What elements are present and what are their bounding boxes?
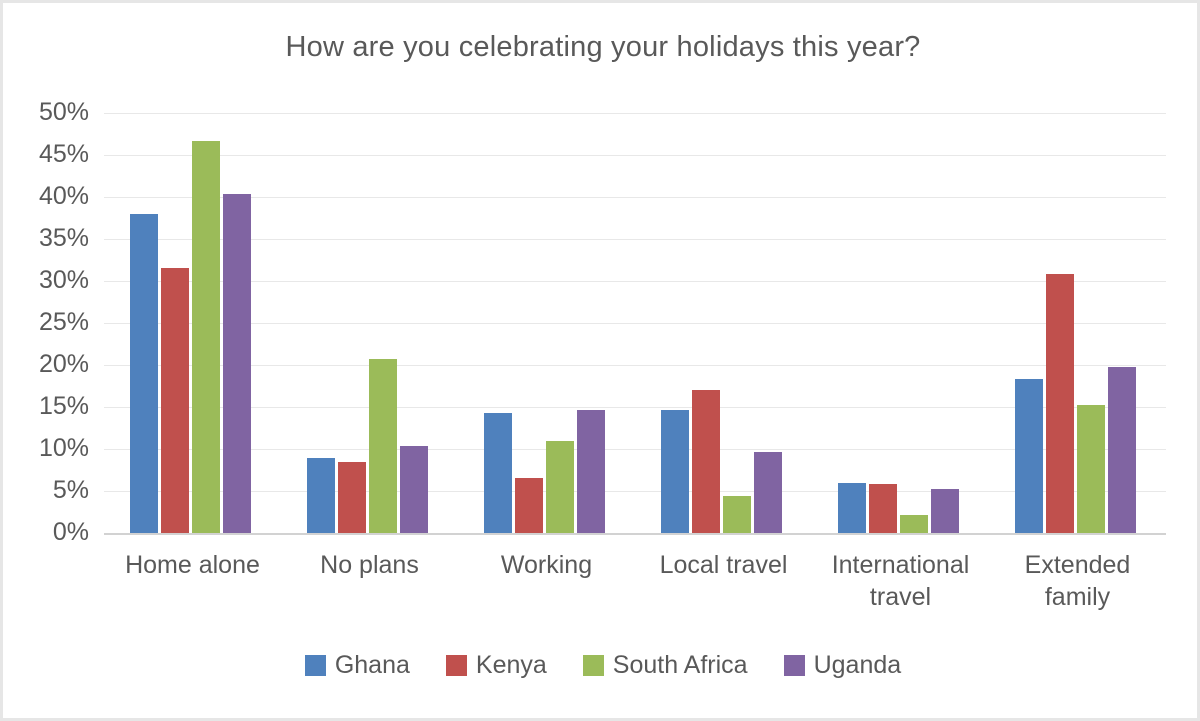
bar-group <box>635 113 812 533</box>
bar-south-africa[interactable] <box>723 496 751 533</box>
bar-uganda[interactable] <box>1108 367 1136 533</box>
y-axis-tick-label: 15% <box>3 394 89 419</box>
bar-ghana[interactable] <box>661 410 689 533</box>
bar-ghana[interactable] <box>484 413 512 533</box>
x-axis-category-label: No plans <box>281 549 458 581</box>
x-axis-category-label: Local travel <box>635 549 812 581</box>
y-axis-tick-label: 45% <box>3 142 89 167</box>
y-axis-tick-label: 0% <box>3 520 89 545</box>
bar-kenya[interactable] <box>692 390 720 533</box>
bar-group <box>104 113 281 533</box>
legend-swatch-icon <box>583 655 604 676</box>
y-axis-tick-label: 40% <box>3 184 89 209</box>
bar-south-africa[interactable] <box>900 515 928 533</box>
chart-legend: GhanaKenyaSouth AfricaUganda <box>3 653 1200 678</box>
legend-label: Kenya <box>476 653 547 678</box>
y-axis-tick-label: 10% <box>3 436 89 461</box>
legend-item-uganda[interactable]: Uganda <box>784 653 902 678</box>
y-axis-tick-label: 50% <box>3 100 89 125</box>
bar-group <box>458 113 635 533</box>
x-axis-category-label: Working <box>458 549 635 581</box>
legend-item-south-africa[interactable]: South Africa <box>583 653 748 678</box>
chart-container: How are you celebrating your holidays th… <box>0 0 1200 721</box>
bar-group <box>989 113 1166 533</box>
bar-south-africa[interactable] <box>1077 405 1105 533</box>
bar-south-africa[interactable] <box>369 359 397 533</box>
bar-uganda[interactable] <box>931 489 959 533</box>
x-axis-category-label: International travel <box>812 549 989 613</box>
bar-ghana[interactable] <box>838 483 866 533</box>
y-axis-tick-label: 20% <box>3 352 89 377</box>
bar-kenya[interactable] <box>515 478 543 533</box>
legend-swatch-icon <box>446 655 467 676</box>
bar-ghana[interactable] <box>1015 379 1043 533</box>
plot-area <box>104 113 1166 533</box>
y-axis-tick-label: 35% <box>3 226 89 251</box>
bar-kenya[interactable] <box>1046 274 1074 533</box>
legend-swatch-icon <box>305 655 326 676</box>
y-axis-tick-label: 5% <box>3 478 89 503</box>
bar-south-africa[interactable] <box>546 441 574 533</box>
bar-kenya[interactable] <box>869 484 897 533</box>
bar-uganda[interactable] <box>754 452 782 533</box>
legend-item-ghana[interactable]: Ghana <box>305 653 410 678</box>
bar-south-africa[interactable] <box>192 141 220 533</box>
legend-item-kenya[interactable]: Kenya <box>446 653 547 678</box>
legend-label: South Africa <box>613 653 748 678</box>
bar-uganda[interactable] <box>223 194 251 533</box>
bar-ghana[interactable] <box>307 458 335 533</box>
chart-title: How are you celebrating your holidays th… <box>3 31 1200 64</box>
x-axis-category-label: Extended family <box>989 549 1166 613</box>
y-axis-tick-label: 30% <box>3 268 89 293</box>
bar-ghana[interactable] <box>130 214 158 533</box>
bar-group <box>281 113 458 533</box>
bar-uganda[interactable] <box>400 446 428 533</box>
legend-label: Uganda <box>814 653 902 678</box>
gridline <box>104 533 1166 535</box>
y-axis-tick-label: 25% <box>3 310 89 335</box>
bar-uganda[interactable] <box>577 410 605 533</box>
legend-label: Ghana <box>335 653 410 678</box>
bar-kenya[interactable] <box>161 268 189 533</box>
legend-swatch-icon <box>784 655 805 676</box>
x-axis-category-label: Home alone <box>104 549 281 581</box>
bar-group <box>812 113 989 533</box>
bar-kenya[interactable] <box>338 462 366 533</box>
